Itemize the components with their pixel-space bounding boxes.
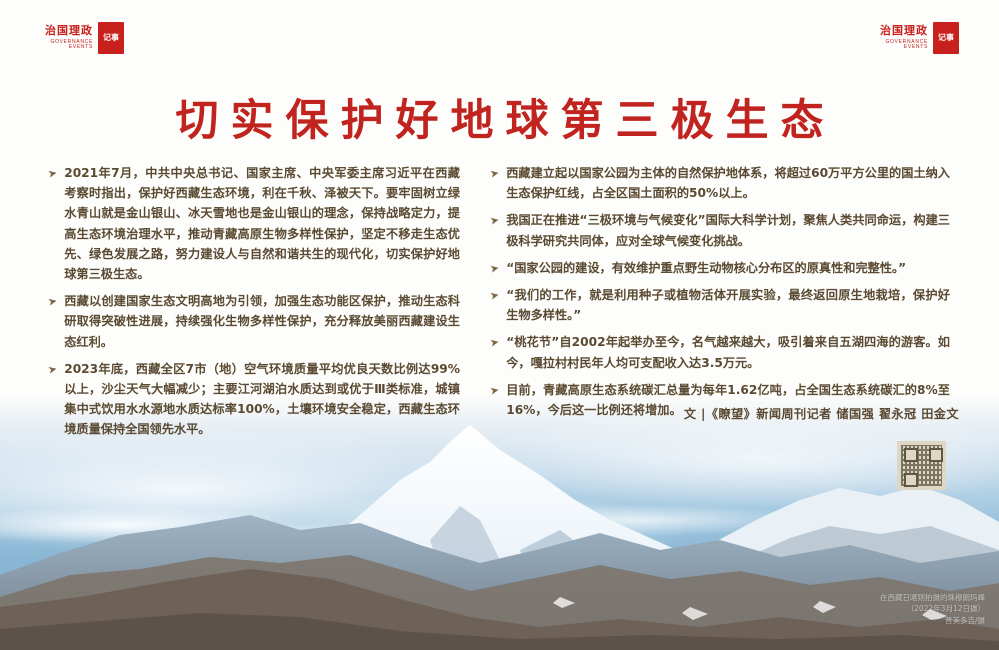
logo-text-right: 治国理政 GOVERNANCE EVENTS (880, 26, 928, 50)
logo-cn-left: 治国理政 (45, 26, 93, 37)
list-item: ➤ “国家公园的建设，有效维护重点野生动物核心分布区的原真性和完整性。” (490, 258, 950, 278)
paragraph-text: “国家公园的建设，有效维护重点野生动物核心分布区的原真性和完整性。” (506, 258, 906, 278)
arrow-bullet-icon: ➤ (46, 291, 59, 312)
byline: 文 |《瞭望》新闻周刊记者 储国强 翟永冠 田金文 (0, 404, 959, 422)
photo-credit: 晋美多吉/摄 (745, 615, 985, 626)
arrow-bullet-icon: ➤ (488, 211, 501, 232)
paragraph-text: 2021年7月，中共中央总书记、国家主席、中央军委主席习近平在西藏考察时指出，保… (64, 163, 460, 284)
logo-en-line2-right: EVENTS (885, 45, 928, 50)
arrow-bullet-icon: ➤ (488, 258, 501, 279)
qr-eye-icon (904, 473, 918, 487)
poster-page: 治国理政 GOVERNANCE EVENTS 记事 治国理政 GOVERNANC… (0, 0, 999, 650)
arrow-bullet-icon: ➤ (488, 163, 501, 184)
list-item: ➤ “桃花节”自2002年起举办至今，名气越来越大，吸引着来自五湖四海的游客。如… (490, 332, 950, 372)
arrow-bullet-icon: ➤ (488, 333, 501, 354)
seal-icon-right: 记事 (933, 22, 959, 54)
list-item: ➤ “我们的工作，就是利用种子或植物活体开展实验，最终返回原生地栽培，保护好生物… (490, 285, 950, 325)
arrow-bullet-icon: ➤ (488, 285, 501, 306)
arrow-bullet-icon: ➤ (46, 163, 59, 184)
list-item: ➤ 我国正在推进“三极环境与气候变化”国际大科学计划，聚焦人类共同命运，构建三极… (490, 210, 950, 250)
seal-icon-left: 记事 (98, 22, 124, 54)
photo-caption: 在西藏日喀则拍摄的珠穆朗玛峰 （2022年3月12日摄） 晋美多吉/摄 (745, 592, 985, 626)
list-item: ➤ 西藏以创建国家生态文明高地为引领，加强生态功能区保护，推动生态科研取得突破性… (48, 291, 460, 352)
qr-eye-icon (929, 448, 943, 462)
logo-en-line2-left: EVENTS (50, 45, 93, 50)
caption-line-1: 在西藏日喀则拍摄的珠穆朗玛峰 (745, 592, 985, 603)
qr-eye-icon (904, 448, 918, 462)
logo-text-left: 治国理政 GOVERNANCE EVENTS (45, 26, 93, 50)
arrow-bullet-icon: ➤ (488, 380, 501, 401)
logo-left: 治国理政 GOVERNANCE EVENTS 记事 (45, 22, 124, 54)
paragraph-text: “我们的工作，就是利用种子或植物活体开展实验，最终返回原生地栽培，保护好生物多样… (506, 285, 950, 325)
paragraph-text: 我国正在推进“三极环境与气候变化”国际大科学计划，聚焦人类共同命运，构建三极科学… (506, 210, 950, 250)
list-item: ➤ 2021年7月，中共中央总书记、国家主席、中央军委主席习近平在西藏考察时指出… (48, 163, 460, 284)
logo-cn-right: 治国理政 (880, 26, 928, 37)
arrow-bullet-icon: ➤ (46, 359, 59, 380)
paragraph-text: 西藏以创建国家生态文明高地为引领，加强生态功能区保护，推动生态科研取得突破性进展… (64, 291, 460, 352)
qr-code[interactable] (897, 441, 946, 490)
list-item: ➤ 西藏建立起以国家公园为主体的自然保护地体系，将超过60万平方公里的国土纳入生… (490, 163, 950, 203)
logo-en-left: GOVERNANCE EVENTS (50, 40, 93, 50)
caption-line-2: （2022年3月12日摄） (745, 603, 985, 614)
paragraph-text: 西藏建立起以国家公园为主体的自然保护地体系，将超过60万平方公里的国土纳入生态保… (506, 163, 950, 203)
paragraph-text: “桃花节”自2002年起举办至今，名气越来越大，吸引着来自五湖四海的游客。如今，… (506, 332, 950, 372)
paragraph-text: 2023年底，西藏全区7市（地）空气环境质量平均优良天数比例达99%以上，沙尘天… (64, 359, 460, 440)
logo-en-right: GOVERNANCE EVENTS (885, 40, 928, 50)
page-title: 切实保护好地球第三极生态 (0, 86, 999, 148)
logo-right: 治国理政 GOVERNANCE EVENTS 记事 (880, 22, 959, 54)
list-item: ➤ 2023年底，西藏全区7市（地）空气环境质量平均优良天数比例达99%以上，沙… (48, 359, 460, 440)
